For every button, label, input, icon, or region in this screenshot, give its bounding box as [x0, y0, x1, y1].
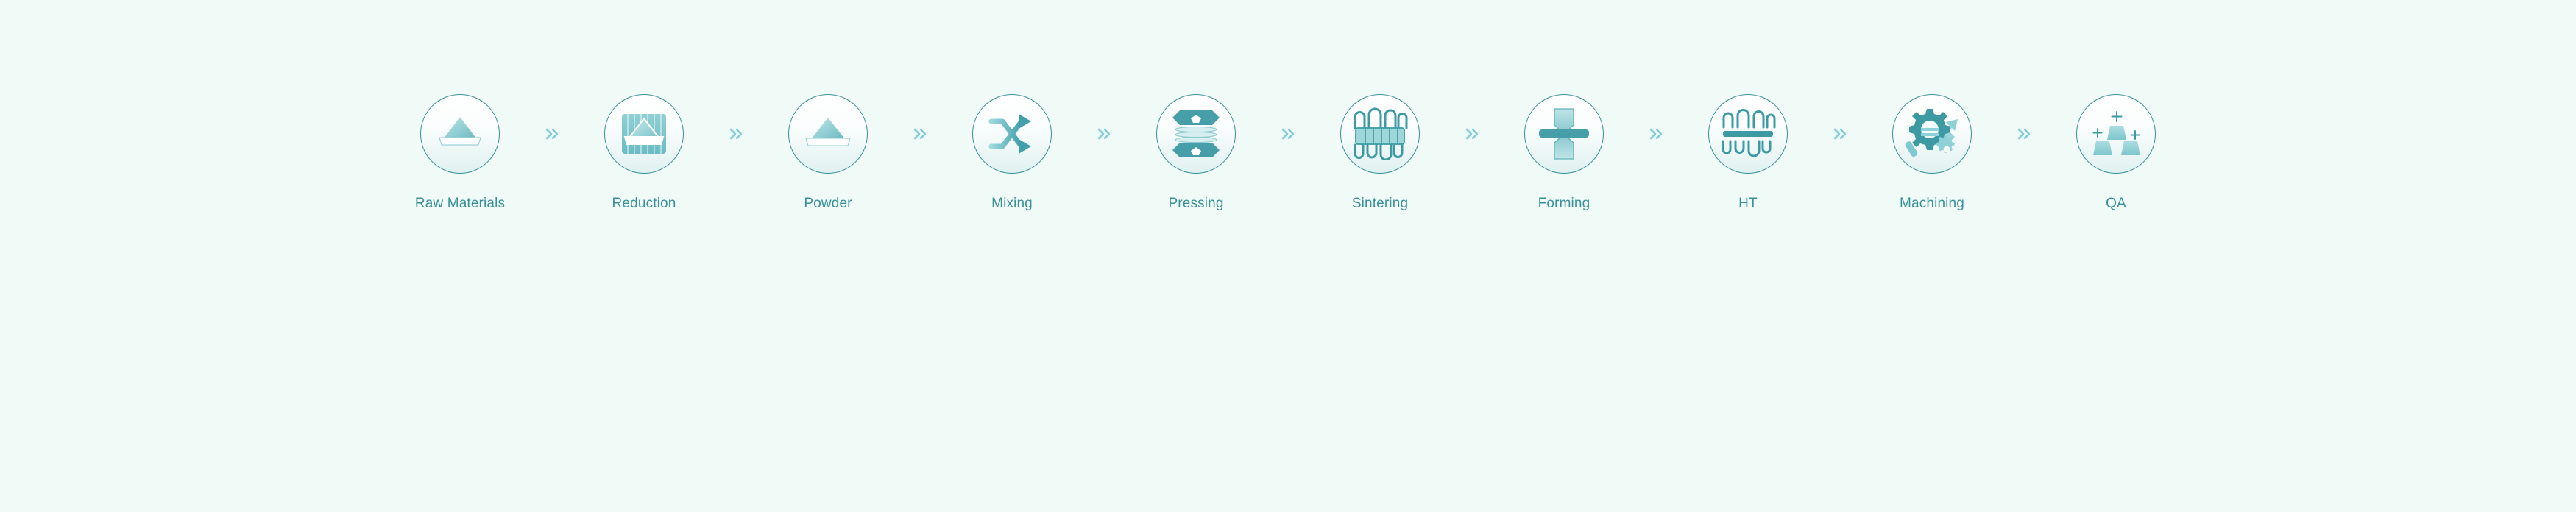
reduction-furnace-icon	[617, 107, 671, 161]
process-node-circle[interactable]	[1524, 94, 1604, 174]
process-node-circle[interactable]	[1340, 94, 1420, 174]
process-flow-diagram: Raw Materials	[0, 0, 2576, 512]
process-step-label: Forming	[1538, 196, 1590, 212]
process-flow-strip: Raw Materials	[0, 0, 2576, 512]
process-step-machining[interactable]: Machining	[1850, 94, 2014, 212]
process-node-circle[interactable]	[2076, 94, 2156, 174]
flow-separator-chevron-icon	[1278, 94, 1298, 174]
finished-ingots-icon	[2089, 109, 2143, 159]
process-node-circle[interactable]	[1892, 94, 1972, 174]
process-step-forming[interactable]: Forming	[1482, 94, 1646, 212]
flow-separator-chevron-icon	[910, 94, 930, 174]
process-step-ht[interactable]: HT	[1666, 94, 1830, 212]
process-step-label: Machining	[1900, 196, 1964, 212]
forming-roller-icon	[1537, 105, 1591, 163]
process-step-label: QA	[2106, 196, 2126, 212]
shuffle-arrows-icon	[988, 111, 1036, 157]
flow-separator-chevron-icon	[1830, 94, 1850, 174]
process-node-circle[interactable]	[972, 94, 1052, 174]
process-step-label: Raw Materials	[415, 196, 505, 212]
process-step-label: Pressing	[1168, 196, 1223, 212]
process-step-reduction[interactable]: Reduction	[562, 94, 726, 212]
process-step-sintering[interactable]: Sintering	[1298, 94, 1462, 212]
process-step-mixing[interactable]: Mixing	[930, 94, 1094, 212]
sintering-furnace-icon	[1351, 107, 1409, 160]
process-step-powder[interactable]: Powder	[746, 94, 910, 212]
ore-pile-on-tray-icon	[433, 107, 487, 161]
process-step-label: HT	[1738, 196, 1758, 212]
gears-growth-arrow-icon	[1903, 106, 1961, 162]
flow-separator-chevron-icon	[542, 94, 562, 174]
flow-separator-chevron-icon	[1462, 94, 1482, 174]
flow-separator-chevron-icon	[1094, 94, 1114, 174]
process-step-qa[interactable]: QA	[2034, 94, 2198, 212]
process-node-circle[interactable]	[420, 94, 500, 174]
heat-treatment-icon	[1719, 108, 1777, 160]
process-step-pressing[interactable]: Pressing	[1114, 94, 1278, 212]
process-step-raw-materials[interactable]: Raw Materials	[378, 94, 542, 212]
process-step-label: Powder	[804, 196, 852, 212]
process-step-label: Sintering	[1352, 196, 1408, 212]
process-node-circle[interactable]	[604, 94, 684, 174]
process-step-label: Mixing	[991, 196, 1033, 212]
powder-pile-icon	[801, 107, 855, 161]
flow-separator-chevron-icon	[726, 94, 746, 174]
process-node-circle[interactable]	[1708, 94, 1788, 174]
process-node-circle[interactable]	[1156, 94, 1236, 174]
process-node-circle[interactable]	[788, 94, 868, 174]
flow-separator-chevron-icon	[2014, 94, 2034, 174]
flow-separator-chevron-icon	[1646, 94, 1666, 174]
press-dies-icon	[1170, 106, 1222, 162]
process-step-label: Reduction	[612, 196, 676, 212]
